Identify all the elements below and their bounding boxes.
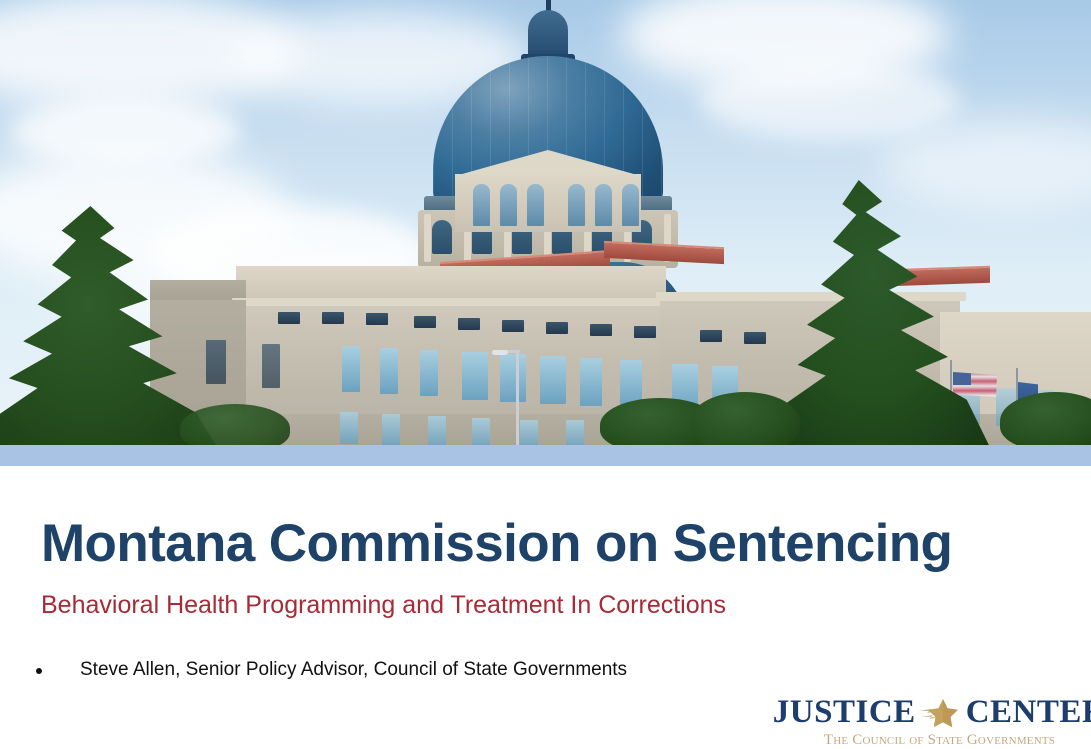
capitol-photo <box>0 0 1091 445</box>
logo-wordmark: JUSTICE CENTER <box>797 694 1082 731</box>
portico-window <box>568 184 585 226</box>
attic-window <box>458 318 480 330</box>
facade-window <box>262 344 280 388</box>
attic-window <box>322 312 344 324</box>
portico-window <box>622 184 639 226</box>
attic-window <box>414 316 436 328</box>
facade-window <box>462 352 488 400</box>
flag-canton <box>953 372 971 385</box>
facade-window <box>340 412 358 444</box>
building-cornice-right <box>656 292 966 301</box>
attic-window <box>744 332 766 344</box>
shrub <box>690 392 800 445</box>
portico-window <box>473 184 490 226</box>
facade-window <box>380 348 398 394</box>
portico-window <box>500 184 517 226</box>
slide-title: Montana Commission on Sentencing <box>41 515 952 573</box>
attic-window <box>634 326 656 338</box>
blue-divider-band <box>0 445 1091 466</box>
facade-window <box>382 414 400 445</box>
american-flag <box>953 372 997 398</box>
logo-word-justice: JUSTICE <box>773 694 916 731</box>
slide-subtitle: Behavioral Health Programming and Treatm… <box>41 591 726 620</box>
bullet-list-item: Steve Allen, Senior Policy Advisor, Coun… <box>36 659 627 681</box>
portico-window <box>595 184 612 226</box>
drum-arch <box>432 220 452 254</box>
street-lamp-pole <box>516 350 519 445</box>
street-lamp-head <box>492 350 508 355</box>
bullet-dot-icon <box>36 668 42 674</box>
facade-window <box>428 416 446 445</box>
facade-window <box>500 354 526 402</box>
building-attic <box>236 266 666 300</box>
shrub <box>180 404 290 445</box>
facade-window <box>580 358 602 406</box>
facade-window <box>472 418 490 445</box>
portico-window <box>527 184 544 226</box>
attic-window <box>366 313 388 325</box>
dome-lantern <box>528 10 568 60</box>
star-icon <box>917 698 965 728</box>
facade-window <box>520 420 538 445</box>
facade-window <box>540 356 566 404</box>
logo-tagline: The Council of State Governments <box>797 732 1082 749</box>
bullet-text: Steve Allen, Senior Policy Advisor, Coun… <box>80 659 627 681</box>
logo-word-center: CENTER <box>966 694 1091 731</box>
slide: Montana Commission on Sentencing Behavio… <box>0 0 1091 749</box>
facade-window <box>566 420 584 445</box>
facade-window <box>342 346 360 392</box>
cloud <box>700 60 960 140</box>
drum-column <box>424 214 431 262</box>
facade-window <box>206 340 226 384</box>
facade-window <box>420 350 438 396</box>
attic-window <box>278 312 300 324</box>
attic-window <box>502 320 524 332</box>
attic-window <box>590 324 612 336</box>
justice-center-logo: JUSTICE CENTER The Council of State Gove… <box>797 694 1082 749</box>
attic-window <box>700 330 722 342</box>
attic-window <box>546 322 568 334</box>
